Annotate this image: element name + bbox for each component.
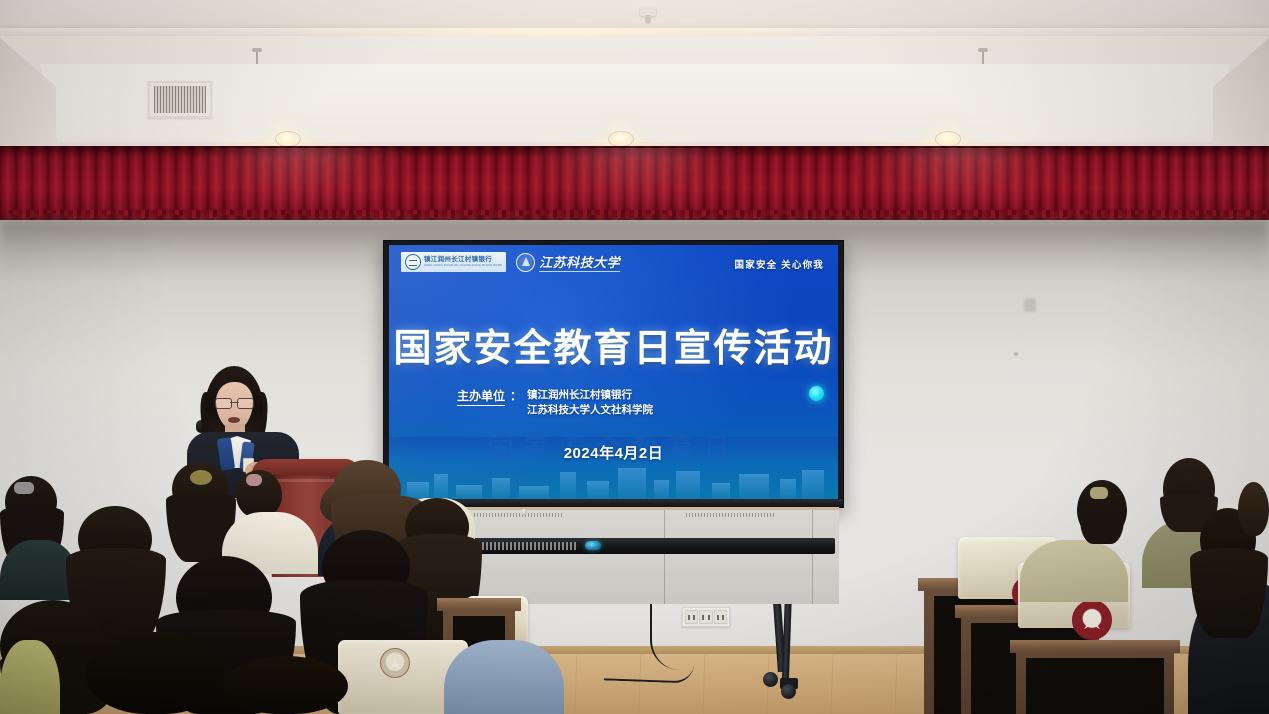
panel-screw xyxy=(521,509,527,515)
conference-room-scene: 国家安全教育日 镇江润州长江村镇银行 ZHEN JIANG RUNZHOU CH… xyxy=(0,0,1269,714)
bank-logo-text: 镇江润州长江村镇银行 ZHEN JIANG RUNZHOU CHANGJIANG… xyxy=(424,257,502,268)
speaker-bar xyxy=(460,538,835,554)
slide-logo-group: 镇江润州长江村镇银行 ZHEN JIANG RUNZHOU CHANGJIANG… xyxy=(401,252,620,272)
audience-head xyxy=(224,656,348,714)
power-indicator-icon[interactable] xyxy=(585,541,601,550)
slide-slogan: 国家安全 关心你我 xyxy=(735,257,824,271)
bank-seal-icon xyxy=(405,254,421,270)
slide-organizer-item: 江苏科技大学人文社科学院 xyxy=(527,403,653,418)
slide-organizer-label: 主办单位 xyxy=(457,387,505,406)
audience-head xyxy=(86,632,224,714)
slide-organizer-list: 镇江润州长江村镇银行 江苏科技大学人文社科学院 xyxy=(527,388,653,418)
hair-clip-icon xyxy=(246,474,262,486)
university-logo: 江苏科技大学 xyxy=(516,252,620,272)
display-screen[interactable]: 国家安全教育日 镇江润州长江村镇银行 ZHEN JIANG RUNZHOU CH… xyxy=(389,245,838,499)
university-logo-name: 江苏科技大学 xyxy=(539,252,620,272)
audience-desk xyxy=(1010,640,1180,714)
seat-crest-embossed xyxy=(380,648,410,678)
university-seat-crest xyxy=(1072,600,1112,640)
panel-vent-left xyxy=(474,513,562,517)
panel-seam xyxy=(812,554,813,604)
presenter-mouth xyxy=(228,417,240,423)
bank-logo-name-en: ZHEN JIANG RUNZHOU CHANGJIANG RURAL BANK xyxy=(424,264,502,267)
slide-organizer-block: 主办单位 ： 镇江润州长江村镇银行 江苏科技大学人文社科学院 xyxy=(457,387,653,418)
presentation-slide: 国家安全教育日 镇江润州长江村镇银行 ZHEN JIANG RUNZHOU CH… xyxy=(389,245,838,499)
hanger-rod xyxy=(982,52,984,64)
soffit-inner-face xyxy=(40,64,1230,142)
audience-hair xyxy=(1190,548,1268,638)
downlight-icon xyxy=(275,131,299,145)
downlight-ring xyxy=(935,131,961,147)
slide-organizer-item: 镇江润州长江村镇银行 xyxy=(527,388,653,403)
outlet-socket[interactable] xyxy=(714,610,727,624)
power-cable-floor xyxy=(604,660,695,683)
slide-organizer-colon: ： xyxy=(510,387,522,404)
downlight-ring xyxy=(608,131,634,147)
panel-vent-right xyxy=(686,513,774,517)
stand-caster xyxy=(763,672,778,687)
downlight-icon xyxy=(608,131,632,145)
desk-cavity xyxy=(1026,658,1164,714)
lens-left xyxy=(215,398,232,409)
audience-torso xyxy=(444,640,564,714)
downlight-ring xyxy=(275,131,301,147)
audience-hair xyxy=(1080,516,1124,544)
ceiling-hanger-icon xyxy=(978,48,988,64)
audience-torso xyxy=(1020,540,1128,602)
hair-clip-icon xyxy=(190,470,212,485)
audience-torso xyxy=(0,640,60,714)
hvac-vent-icon xyxy=(148,81,212,118)
cyan-pointer-dot-icon[interactable] xyxy=(809,386,824,401)
lens-right xyxy=(237,398,254,409)
ceiling-sprinkler-icon xyxy=(640,7,656,25)
outlet-socket[interactable] xyxy=(699,610,712,624)
downlight-icon xyxy=(935,131,959,145)
audience-head xyxy=(1238,482,1269,536)
wall-mark xyxy=(1014,352,1018,356)
panel-seam xyxy=(664,554,665,604)
stand-caster xyxy=(781,684,796,699)
slide-date: 2024年4月2日 xyxy=(389,442,838,463)
wall-smudge xyxy=(1024,298,1036,312)
speaker-grille xyxy=(470,542,578,550)
vent-slats xyxy=(154,86,206,113)
hanger-rod xyxy=(256,52,258,64)
bank-logo: 镇江润州长江村镇银行 ZHEN JIANG RUNZHOU CHANGJIANG… xyxy=(401,252,506,272)
curtain-top-shadow xyxy=(0,146,1269,158)
interactive-display[interactable]: 国家安全教育日 镇江润州长江村镇银行 ZHEN JIANG RUNZHOU CH… xyxy=(383,240,844,508)
university-crest-icon xyxy=(516,253,535,272)
ceiling-hanger-icon xyxy=(252,48,262,64)
eyeglasses-icon xyxy=(215,398,254,408)
slide-title: 国家安全教育日宣传活动 xyxy=(389,317,838,372)
hair-clip-icon xyxy=(14,482,34,494)
hair-clip-icon xyxy=(1090,487,1108,499)
sprinkler-head xyxy=(645,15,651,24)
